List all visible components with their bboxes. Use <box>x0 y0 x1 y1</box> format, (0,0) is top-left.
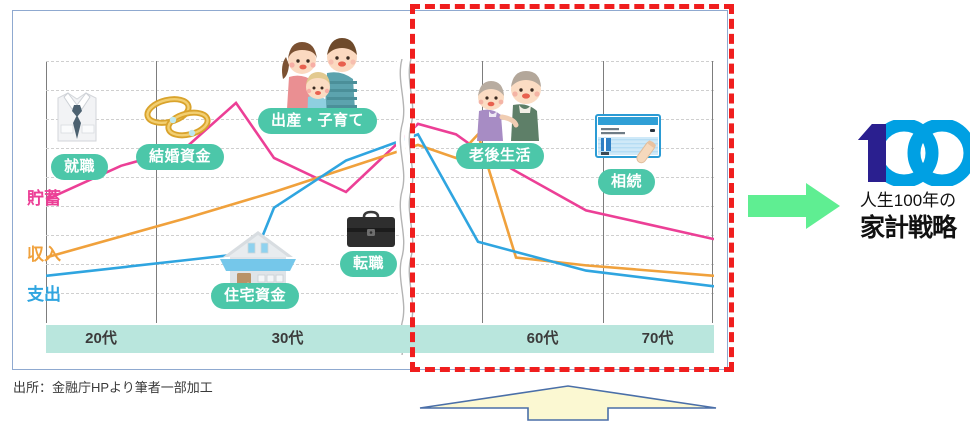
source-caption: 出所：金融庁HPより筆者一部加工 <box>13 377 213 396</box>
green-right-arrow-icon <box>748 182 840 230</box>
retirement-phase-highlight-box <box>410 4 734 372</box>
age-band-20s: 20代 <box>46 325 156 353</box>
wedding-rings-icon <box>143 96 213 140</box>
dress-shirt-necktie-icon <box>55 89 99 145</box>
series-label-income: 収入 <box>27 240 61 265</box>
brand-logo: 人生100年の 家計戦略 <box>846 120 970 260</box>
logo-100-mark <box>846 120 970 186</box>
event-pill-employment[interactable]: 就職 <box>51 154 108 180</box>
event-pill-childbirth[interactable]: 出産・子育て <box>258 108 377 134</box>
briefcase-icon <box>345 209 397 251</box>
event-pill-housing[interactable]: 住宅資金 <box>211 283 299 309</box>
event-pill-job-change[interactable]: 転職 <box>340 251 397 277</box>
logo-tagline-2: 家計戦略 <box>846 208 970 244</box>
series-label-expense: 支出 <box>27 280 61 305</box>
age-band-30s: 30代 <box>156 325 419 353</box>
event-pill-marriage[interactable]: 結婚資金 <box>136 144 224 170</box>
series-label-savings: 貯蓄 <box>27 184 61 209</box>
callout-tail-shape <box>418 380 718 422</box>
